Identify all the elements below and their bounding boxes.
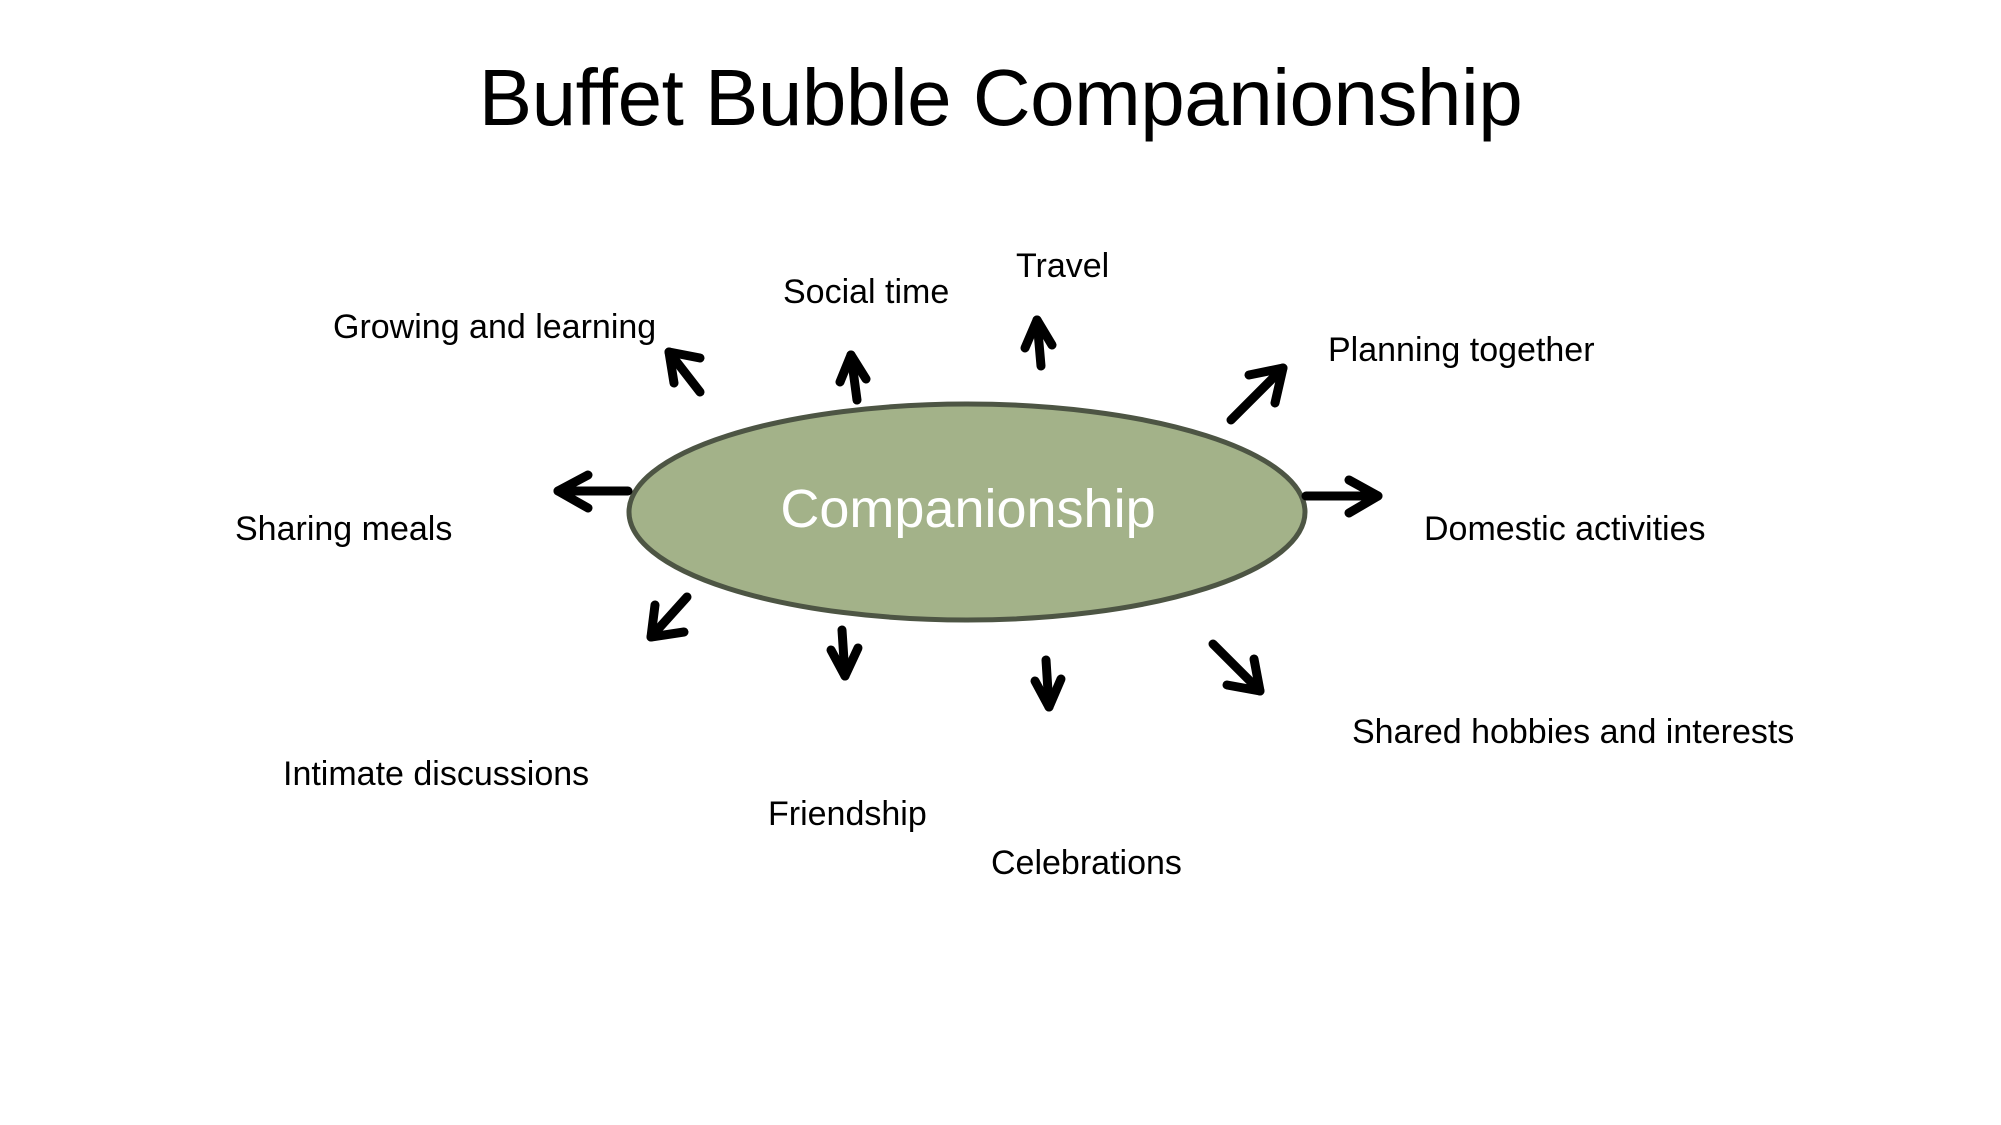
- spoke-label-celebrations[interactable]: Celebrations: [991, 846, 1182, 882]
- spoke-label-friendship[interactable]: Friendship: [768, 797, 927, 833]
- spoke-label-travel[interactable]: Travel: [1016, 249, 1109, 285]
- arrow-left-icon: [558, 475, 628, 508]
- spoke-label-sharing-meals[interactable]: Sharing meals: [235, 512, 452, 548]
- arrow-up-left-icon: [669, 352, 700, 392]
- arrow-up-icon: [1025, 320, 1052, 366]
- arrow-down-left-icon: [651, 597, 687, 637]
- spoke-label-growing-and-learning[interactable]: Growing and learning: [333, 310, 656, 346]
- bubble-diagram: [0, 0, 2001, 1125]
- spoke-label-planning-together[interactable]: Planning together: [1328, 333, 1595, 369]
- arrow-right-icon: [1306, 480, 1378, 513]
- arrow-down-icon: [1035, 660, 1061, 707]
- arrow-up-right-icon: [1231, 368, 1283, 420]
- arrow-down-right-icon: [1213, 644, 1260, 691]
- center-ellipse-label: Companionship: [630, 478, 1306, 540]
- spoke-label-intimate-discussions[interactable]: Intimate discussions: [283, 757, 589, 793]
- spoke-label-shared-hobbies-and-interests[interactable]: Shared hobbies and interests: [1352, 715, 1794, 751]
- spoke-label-social-time[interactable]: Social time: [783, 275, 949, 311]
- arrow-down-icon: [831, 630, 858, 676]
- slide-canvas: Buffet Bubble Companionship: [0, 0, 2001, 1125]
- spoke-label-domestic-activities[interactable]: Domestic activities: [1424, 512, 1706, 548]
- arrow-up-icon: [840, 355, 866, 400]
